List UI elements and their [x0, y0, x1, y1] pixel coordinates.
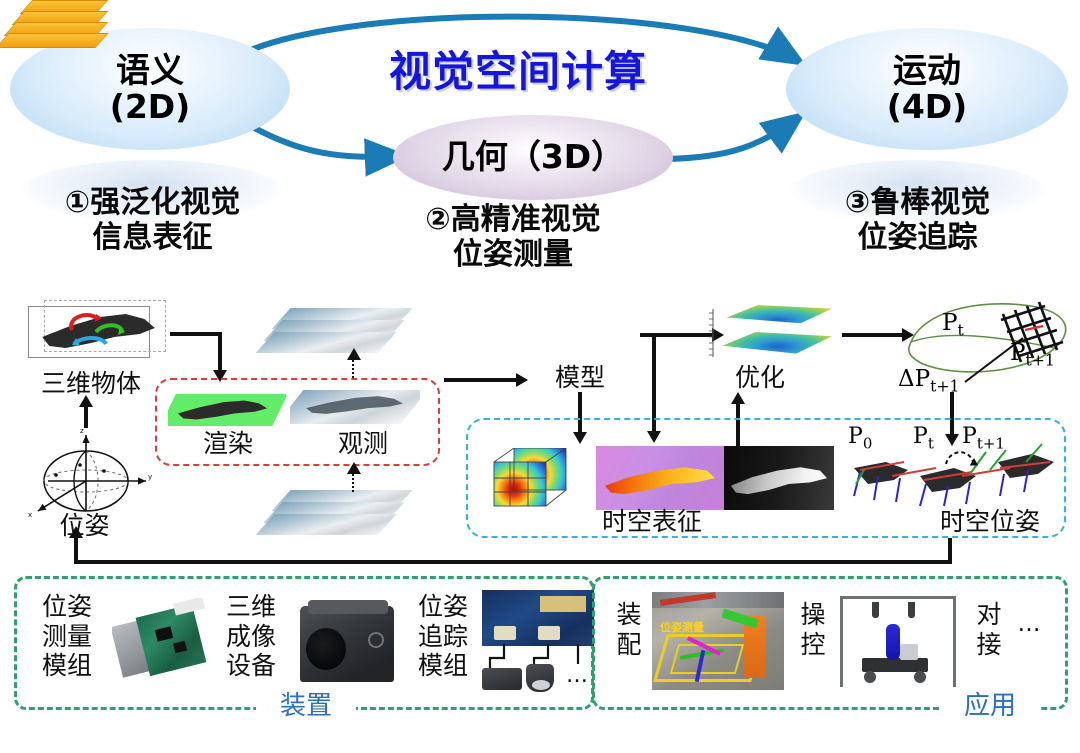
node-geometry[interactable]: 几何（3D） [393, 115, 673, 200]
arc-geometry-to-motion [664, 116, 800, 159]
tracking-camera-left [482, 668, 522, 690]
model-layer [0, 33, 109, 48]
applications-section-label: 应用 [940, 692, 1040, 721]
label-spatiotemporal-repr: 时空表征 [552, 508, 752, 536]
devices-ellipsis: … [562, 664, 592, 688]
math-pt-base2: P [913, 424, 928, 449]
math-dp-sub: t+1 [930, 377, 959, 396]
render-image [168, 390, 286, 432]
pose-sphere-image: z y x [18, 425, 158, 517]
robot-wheel-left [864, 671, 876, 683]
math-pt1-pose: Pt+1 [962, 424, 1005, 452]
arrow-mask-to-optimize-head [731, 392, 745, 404]
label-render: 渲染 [175, 430, 281, 458]
node-motion-line1: 运动 [893, 54, 961, 90]
svg-text:z: z [80, 427, 84, 435]
node-semantics-line2: (2D) [110, 90, 191, 125]
node-semantics-line1: 语义 [116, 54, 184, 90]
math-pt-sub2: t [928, 434, 934, 452]
optimize-axis-icon [700, 307, 718, 361]
application-image-assembly: 位姿测量 [652, 592, 784, 690]
spatiotemporal-feature-cube [492, 448, 570, 510]
device-image-tracking-module: … [482, 590, 598, 694]
label-three-d-object: 三维物体 [16, 370, 166, 398]
device-image-3d-scanner [294, 596, 402, 686]
math-pt-manifold: Pt [942, 310, 964, 340]
arrow-object-to-render-v [218, 332, 222, 372]
gantry-rail-left [872, 602, 879, 618]
label-model: 模型 [528, 364, 632, 392]
scanner-top-face [308, 600, 388, 614]
heatcube-wireframe [492, 448, 570, 510]
robot-blue-arm [886, 624, 900, 660]
node-motion-line2: (4D) [887, 90, 968, 125]
label-observe: 观测 [310, 430, 416, 458]
device-image-pose-module [112, 598, 208, 684]
page-title: 视觉空间计算 [389, 38, 647, 99]
robot-gripper [900, 644, 918, 660]
assembly-overlay-text: 位姿测量 [660, 622, 730, 634]
device-label-pose-module: 位姿 测量 模组 [28, 592, 106, 681]
math-pt-pose: Pt [913, 424, 934, 452]
arrow-pose-to-object-head [79, 395, 93, 407]
device-label-3d-imaging: 三维 成像 设备 [212, 592, 290, 681]
device-label-tracking-module: 位姿 追踪 模组 [404, 592, 482, 681]
scanner-indicator [368, 632, 384, 648]
caption-motion: ③鲁棒视觉 位姿追踪 [790, 186, 1045, 256]
math-p0: P0 [848, 424, 872, 452]
arrow-optimize-to-manifold [842, 333, 904, 337]
application-image-manipulation [834, 592, 958, 690]
spatiotemporal-mask-image [724, 446, 834, 510]
stack-sheet [255, 514, 396, 535]
feedback-line-v-left [74, 534, 78, 562]
observation-stack-top [265, 308, 387, 354]
math-pt1-manifold: Pt+1 [1010, 340, 1055, 370]
math-pt-base: P [942, 310, 957, 336]
feedback-line-h [74, 560, 952, 564]
caption-geometry: ②高精准视觉 位姿测量 [368, 203, 658, 273]
spatiotemporal-pose-image [850, 440, 1060, 510]
caption-semantics: ①强泛化视觉 信息表征 [25, 186, 280, 256]
feedback-arrow-head [69, 526, 83, 538]
optimize-surface-upper [720, 305, 832, 331]
robot-base [862, 658, 928, 672]
observation-stack-bottom [265, 490, 387, 536]
tracking-board-port [538, 626, 560, 640]
applications-ellipsis: … [1012, 612, 1046, 637]
three-d-object-image [22, 300, 170, 370]
application-label-docking: 对 接 [968, 600, 1010, 659]
label-spatiotemporal-pose: 时空位姿 [890, 508, 1080, 536]
robot-wheel-right [914, 671, 926, 683]
math-dp-base: ΔP [898, 366, 930, 392]
node-geometry-line1: 几何（3D） [442, 140, 624, 175]
application-label-manipulation: 操 控 [792, 600, 834, 659]
gantry-rail-right [908, 602, 915, 618]
scanner-lens [306, 628, 346, 670]
observe-image [290, 386, 420, 430]
tracking-board-port [494, 626, 516, 640]
dotted-link-bottom-head [347, 462, 361, 474]
devices-section-label: 装置 [256, 692, 356, 721]
optimize-surface-lower [720, 329, 832, 359]
dotted-link-top-head [347, 348, 361, 360]
diagram-canvas: 语义 (2D) 几何（3D） 运动 (4D) 视觉空间计算 ①强泛化视觉 信息表… [0, 0, 1080, 753]
tracking-board-slot [540, 596, 586, 612]
arrow-pose-to-object-line [84, 404, 88, 428]
math-pt1-base2: P [962, 424, 977, 449]
math-p0-sub: 0 [863, 434, 873, 452]
optimization-image [700, 303, 834, 365]
stack-sheet [255, 332, 396, 353]
arrow-object-to-render-h [170, 332, 222, 336]
label-pose: 位姿 [22, 512, 147, 540]
tracking-camera-lens [532, 680, 550, 690]
math-pt-sub: t [957, 321, 963, 340]
node-motion[interactable]: 运动 (4D) [786, 28, 1068, 150]
math-p0-base: P [848, 424, 863, 449]
label-optimize: 优化 [708, 364, 812, 392]
application-label-assembly: 装 配 [608, 600, 650, 659]
svg-text:y: y [148, 473, 152, 481]
arrow-render-to-model-head [516, 373, 528, 387]
spatiotemporal-flow-image [596, 446, 724, 510]
arrow-render-to-model [444, 378, 518, 382]
math-pt1-sub2: t+1 [977, 434, 1005, 452]
object-axes-icon [52, 304, 130, 350]
math-pt1-sub: t+1 [1025, 351, 1054, 370]
math-pt1-base: P [1010, 340, 1025, 366]
